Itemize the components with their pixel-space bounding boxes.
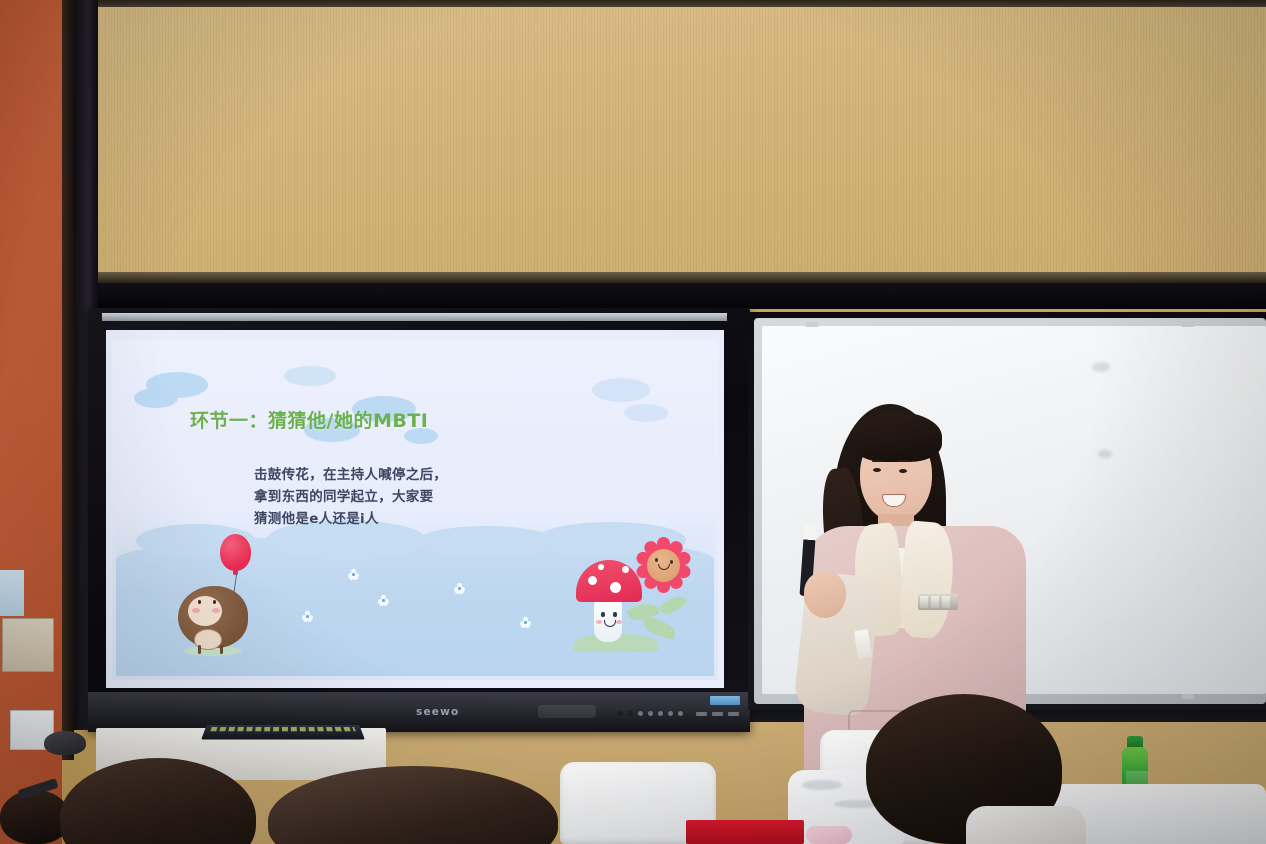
wall-dark-band: [96, 283, 1266, 309]
meadow-bump: [416, 526, 556, 558]
audio-port[interactable]: [728, 712, 739, 716]
wall-top-trim: [96, 0, 1266, 7]
hedgehog-eye: [198, 600, 201, 604]
display-bottom-bezel: seewo: [88, 692, 750, 732]
whiteboard-clip: [1182, 322, 1194, 327]
computer-mouse[interactable]: [44, 731, 86, 755]
whiteboard-smudge: [1092, 362, 1110, 372]
wall-control-panel[interactable]: [2, 618, 54, 672]
mushroom-cheek: [616, 620, 622, 624]
home-button[interactable]: [668, 711, 673, 716]
mushroom-dot: [598, 564, 604, 570]
wall-notice: [0, 570, 24, 616]
back-button[interactable]: [678, 711, 683, 716]
keyboard-keys: [210, 727, 355, 731]
back-wall-panel: [96, 0, 1266, 300]
small-flower-icon: [454, 583, 465, 594]
flora-illustration: [568, 532, 700, 658]
cloud-icon: [624, 404, 668, 422]
cloud-icon: [592, 378, 650, 402]
display-speaker-grille: [538, 705, 596, 718]
hedgehog-foot: [220, 645, 223, 654]
slide-canvas: 环节一：猜猜他/她的MBTI 击鼓传花，在主持人喊停之后， 拿到东西的同学起立，…: [116, 344, 714, 676]
pillar-edge: [62, 0, 74, 760]
whiteboard-smudge: [1098, 450, 1112, 458]
small-flower-icon: [348, 569, 359, 580]
daisy-flower-icon: [632, 534, 694, 596]
mushroom-dot: [622, 566, 629, 573]
mushroom-dot: [610, 582, 621, 593]
whiteboard-clip: [806, 322, 818, 327]
small-flower-icon: [302, 611, 313, 622]
presenter-eye: [873, 468, 881, 472]
source-button[interactable]: [658, 711, 663, 716]
usb-port[interactable]: [696, 712, 707, 716]
slide-title: 环节一：猜猜他/她的MBTI: [190, 406, 428, 433]
volume-down-button[interactable]: [638, 711, 643, 716]
classroom-scene: 环节一：猜猜他/她的MBTI 击鼓传花，在主持人喊停之后， 拿到东西的同学起立，…: [0, 0, 1266, 844]
cloud-icon: [134, 388, 178, 408]
display-screen[interactable]: 环节一：猜猜他/她的MBTI 击鼓传花，在主持人喊停之后， 拿到东西的同学起立，…: [106, 330, 724, 688]
presenter-coat-buckle: [918, 594, 958, 610]
bag-fold: [802, 780, 842, 790]
daisy-eye: [670, 560, 673, 564]
red-package[interactable]: [686, 820, 804, 844]
mushroom-cheek: [596, 620, 602, 624]
presenter-eye: [899, 469, 907, 473]
hedgehog-illustration: [178, 534, 264, 662]
daisy-eye: [655, 558, 658, 562]
hedgehog-foot: [198, 645, 201, 654]
volume-up-button[interactable]: [648, 711, 653, 716]
cloud-icon: [284, 366, 336, 386]
display-badge: [710, 696, 740, 705]
hdmi-port[interactable]: [712, 712, 723, 716]
keyboard[interactable]: [201, 725, 365, 739]
display-top-highlight: [102, 313, 727, 321]
student-shoulder: [966, 806, 1086, 844]
small-flower-icon: [520, 617, 531, 628]
presenter-bangs: [852, 412, 942, 462]
whiteboard-clip: [1182, 694, 1194, 699]
interactive-display[interactable]: 环节一：猜猜他/她的MBTI 击鼓传花，在主持人喊停之后， 拿到东西的同学起立，…: [88, 308, 750, 732]
display-control-buttons[interactable]: [618, 711, 739, 716]
power-button[interactable]: [618, 711, 623, 716]
menu-button[interactable]: [628, 711, 633, 716]
mushroom-eye: [613, 612, 617, 617]
hedgehog-eye: [213, 600, 216, 604]
seewo-brand-logo: seewo: [416, 706, 459, 718]
hedgehog-cheek: [192, 608, 200, 613]
pink-item[interactable]: [806, 826, 852, 844]
small-flower-icon: [378, 595, 389, 606]
mushroom-eye: [601, 612, 605, 617]
balloon-icon: [220, 534, 251, 571]
presenter-hand: [804, 572, 846, 618]
mushroom-dot: [588, 576, 597, 585]
slide-body-text: 击鼓传花，在主持人喊停之后， 拿到东西的同学起立，大家要 猜测他是e人还是i人: [254, 464, 447, 530]
hedgehog-cheek: [212, 608, 220, 613]
presentation-slide: 环节一：猜猜他/她的MBTI 击鼓传花，在主持人喊停之后， 拿到东西的同学起立，…: [112, 340, 718, 680]
